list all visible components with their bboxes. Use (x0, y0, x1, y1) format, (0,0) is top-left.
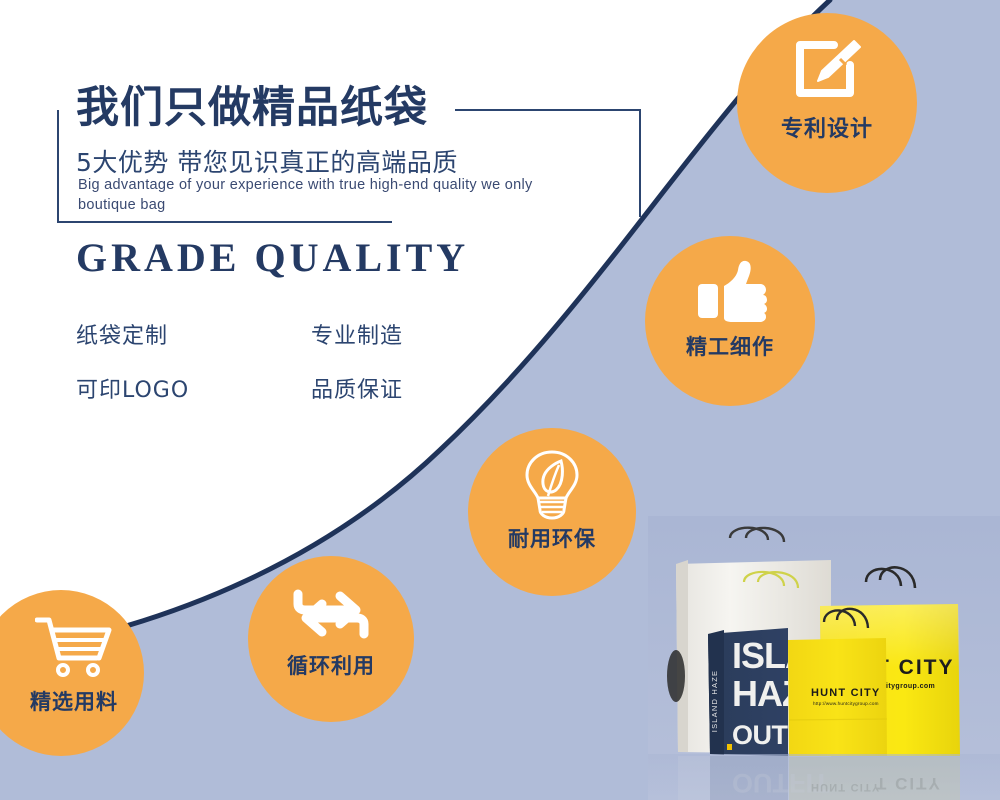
badge-recycling[interactable]: 循环利用 (248, 556, 414, 722)
grade-quality-heading: GRADE QUALITY (76, 234, 469, 281)
feature-word-grid: 纸袋定制 专业制造 可印LOGO 品质保证 (76, 318, 456, 426)
svg-text:HUNT CITY: HUNT CITY (811, 687, 880, 699)
svg-text:http://www.huntcitygroup.com: http://www.huntcitygroup.com (813, 701, 879, 706)
main-title: 我们只做精品纸袋 (76, 86, 428, 131)
shopping-cart-icon (0, 616, 144, 678)
svg-text:ISLAND HAZE: ISLAND HAZE (710, 670, 719, 732)
feature-row: 纸袋定制 专业制造 (76, 318, 456, 350)
feature-custom-bag: 纸袋定制 (76, 318, 311, 350)
feature-quality-guarantee: 品质保证 (311, 372, 403, 404)
badge-eco-durable[interactable]: 耐用环保 (468, 428, 636, 596)
frame-top-horizontal-line (455, 109, 641, 111)
badge-fine-craftsmanship-label: 精工细作 (645, 331, 815, 361)
pen-design-icon (737, 35, 917, 105)
feature-print-logo: 可印LOGO (76, 372, 311, 404)
header-block: 我们只做精品纸袋 5大优势 带您见识真正的高端品质 Big advantage … (0, 0, 700, 300)
svg-text:tcitygroup.com: tcitygroup.com (879, 683, 935, 690)
recycle-arrows-icon (248, 582, 414, 646)
badge-eco-durable-label: 耐用环保 (468, 523, 636, 553)
feature-row: 可印LOGO 品质保证 (76, 372, 456, 404)
frame-bottom-horizontal-line (57, 221, 392, 223)
feature-pro-manufacture: 专业制造 (311, 318, 403, 350)
frame-right-vertical-line (639, 109, 641, 217)
subtitle-chinese: 5大优势 带您见识真正的高端品质 (76, 143, 458, 179)
badge-fine-craftsmanship[interactable]: 精工细作 (645, 236, 815, 406)
subtitle-english: Big advantage of your experience with tr… (78, 176, 548, 215)
lightbulb-leaf-icon (468, 448, 636, 522)
product-photo-paper-bags: ISLAND HAZE ISLA HAZ OUTFIT T CITY tcity… (648, 516, 1000, 800)
badge-patent-design[interactable]: 专利设计 (737, 13, 917, 193)
thumbs-up-icon (645, 258, 815, 326)
badge-patent-design-label: 专利设计 (737, 111, 917, 143)
badge-selected-materials-label: 精选用料 (0, 686, 144, 716)
frame-left-vertical-line (57, 110, 59, 223)
badge-recycling-label: 循环利用 (248, 650, 414, 680)
infographic-canvas: 我们只做精品纸袋 5大优势 带您见识真正的高端品质 Big advantage … (0, 0, 1000, 800)
